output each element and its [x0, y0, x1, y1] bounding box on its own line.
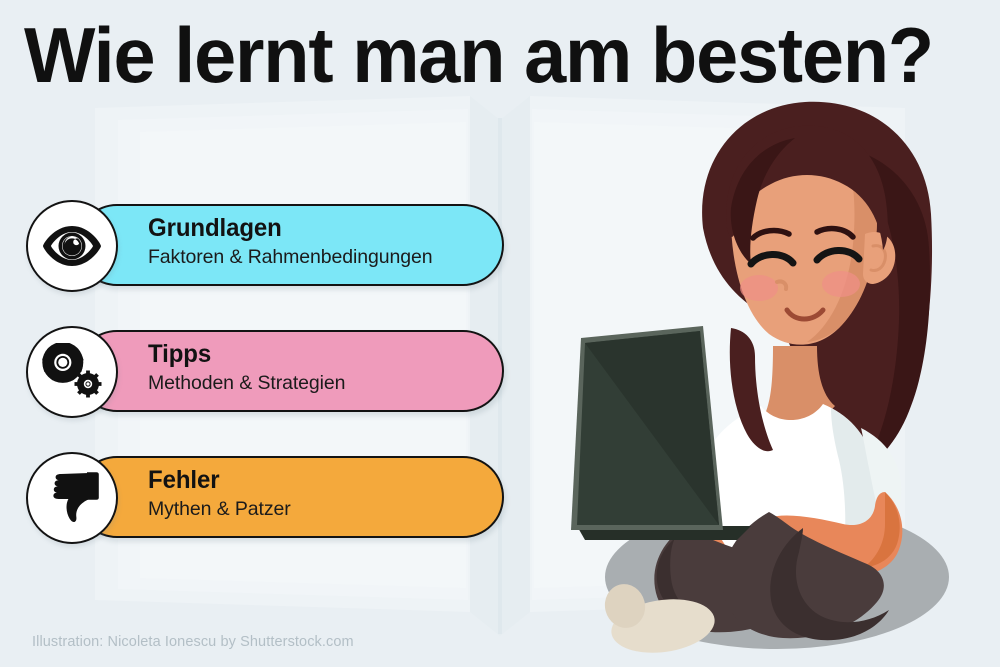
illustration-girl-with-laptop: [555, 88, 1000, 667]
topic-card-title: Grundlagen: [148, 214, 421, 243]
topic-card-title: Fehler: [148, 466, 285, 495]
topic-card-subtitle: Methoden & Strategien: [148, 371, 345, 395]
image-credit: Illustration: Nicoleta Ionescu by Shutte…: [32, 634, 354, 650]
topic-card-subtitle: Mythen & Patzer: [148, 497, 291, 521]
topic-card-tipps[interactable]: Tipps Methoden & Strategien: [26, 326, 496, 416]
topic-card-fehler[interactable]: Fehler Mythen & Patzer: [26, 452, 496, 542]
topic-card-text: Tipps Methoden & Strategien: [148, 340, 345, 395]
topic-card-text: Fehler Mythen & Patzer: [148, 466, 291, 521]
topic-card-grundlagen[interactable]: Grundlagen Faktoren & Rahmenbedingungen: [26, 200, 496, 290]
topic-card-list: Grundlagen Faktoren & Rahmenbedingungen: [26, 200, 496, 542]
topic-card-text: Grundlagen Faktoren & Rahmenbedingungen: [148, 214, 432, 269]
topic-card-subtitle: Faktoren & Rahmenbedingungen: [148, 245, 432, 269]
eye-icon: [40, 222, 104, 270]
thumbs-down-icon-badge: [26, 452, 118, 544]
page-title: Wie lernt man am besten?: [24, 12, 951, 98]
thumbs-down-icon: [43, 469, 101, 527]
gears-icon-badge: [26, 326, 118, 418]
gears-icon: [40, 343, 104, 401]
poster-canvas: Wie lernt man am besten? Gru: [0, 0, 1000, 667]
topic-card-title: Tipps: [148, 340, 337, 369]
eye-icon-badge: [26, 200, 118, 292]
